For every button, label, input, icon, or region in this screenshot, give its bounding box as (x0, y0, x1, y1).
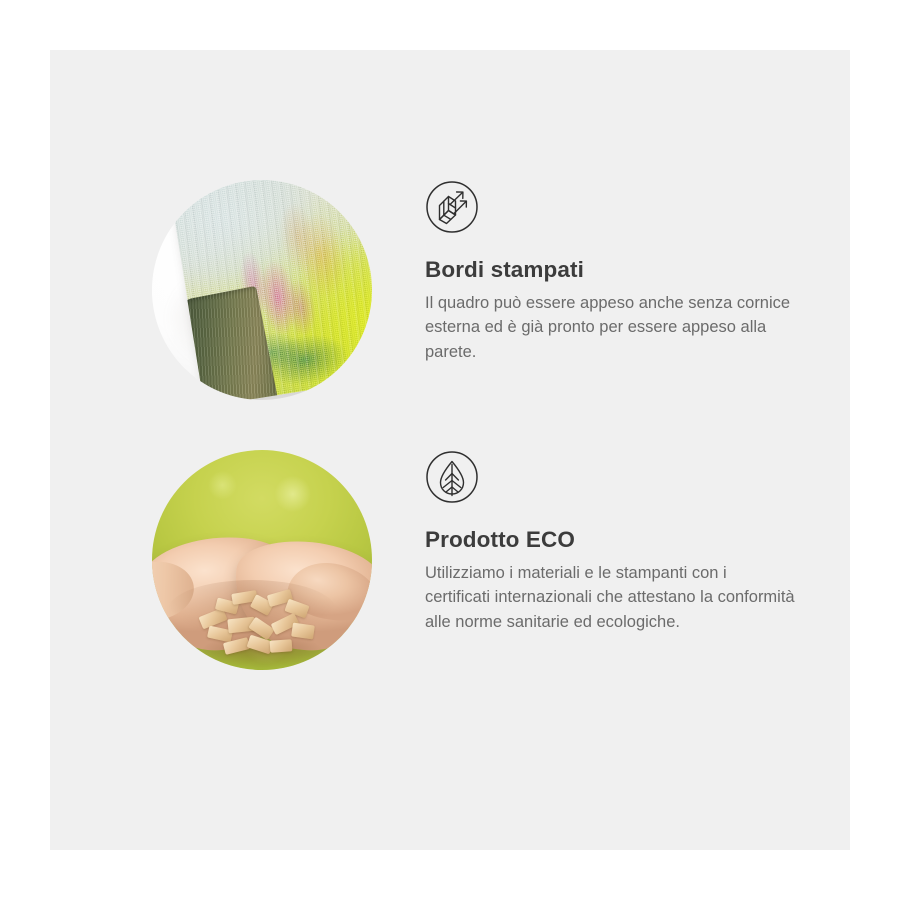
wood-chips-hands-photo (152, 450, 372, 670)
eco-photo-circle (152, 450, 372, 670)
canvas-corner-photo (152, 180, 372, 400)
printed-edges-title: Bordi stampati (425, 256, 815, 283)
cupped-hands (152, 528, 372, 660)
wood-chips-pile (194, 590, 326, 664)
leaf-icon (425, 450, 479, 504)
printed-edges-text: Bordi stampati Il quadro può essere appe… (425, 180, 815, 364)
printed-edges-icon (425, 180, 479, 234)
feature-eco-product: Prodotto ECO Utilizziamo i materiali e l… (50, 450, 850, 730)
eco-product-description: Utilizziamo i materiali e le stampanti c… (425, 561, 795, 634)
painted-canvas-block (170, 180, 372, 400)
content-panel: Bordi stampati Il quadro può essere appe… (50, 50, 850, 850)
feature-printed-edges: Bordi stampati Il quadro può essere appe… (50, 180, 850, 460)
printed-edges-description: Il quadro può essere appeso anche senza … (425, 291, 795, 364)
wood-chip (270, 639, 293, 653)
eco-product-title: Prodotto ECO (425, 526, 815, 553)
canvas-corner-circle (152, 180, 372, 400)
wood-chip (291, 623, 315, 640)
eco-product-text: Prodotto ECO Utilizziamo i materiali e l… (425, 450, 815, 634)
product-feature-page: Bordi stampati Il quadro può essere appe… (0, 0, 900, 900)
